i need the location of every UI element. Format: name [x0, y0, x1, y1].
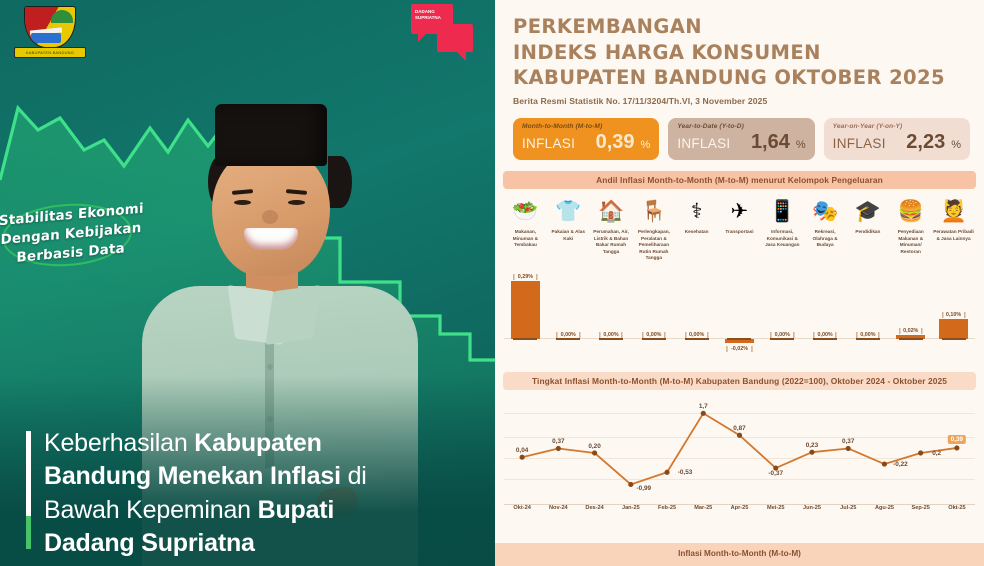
- bar-value-label: 0,29%: [514, 274, 537, 280]
- category-7: 📱Informasi, Komunikasi & Jasa Keuangan: [761, 195, 804, 261]
- bar-baseline-mark: [642, 338, 666, 340]
- category-3: 🏠Perumahan, Air, Listrik & Bahan Bakar R…: [590, 195, 633, 261]
- bar: [939, 319, 968, 339]
- category-label: Rekreasi, Olahraga & Budaya: [804, 229, 847, 248]
- line-chart-x-axis-labels: Okt-24Nov-24Des-24Jan-25Feb-25Mar-25Apr-…: [504, 505, 975, 511]
- line-point-label: -0,99: [637, 485, 652, 492]
- category-label: Kesehatan: [675, 229, 718, 235]
- bar-base-underline: [513, 338, 537, 340]
- shield-blue-water: [31, 33, 61, 43]
- bar-column: 0,00%: [632, 266, 675, 361]
- speech-bubble-secondary: [437, 24, 473, 52]
- line-point-label: 0,04: [516, 447, 528, 454]
- headline-line-3: Bawah Kepeminan Bupati: [44, 494, 456, 527]
- x-axis-tick-label: Jun-25: [794, 505, 830, 511]
- category-1: 🥗Makanan, Minuman & Tembakau: [504, 195, 547, 261]
- bar-column: 0,00%: [590, 266, 633, 361]
- bar-column: 0,00%: [804, 266, 847, 361]
- category-label: Perlengkapan, Peralatan & Pemeliharaan R…: [632, 229, 675, 261]
- tagline-badge: Stabilitas Ekonomi Dengan Kebijakan Berb…: [0, 190, 146, 275]
- headline-2-bold: Bandung Menekan Inflasi: [44, 462, 341, 490]
- stat-label: Month-to-Month (M-to-M): [522, 123, 650, 130]
- headline-line-4: Dadang Supriatna: [44, 527, 456, 560]
- portrait-collar-right: [265, 285, 320, 345]
- line-point-label: 0,39: [948, 435, 966, 444]
- page-title: PERKEMBANGAN INDEKS HARGA KONSUMEN KABUP…: [495, 0, 984, 106]
- bar-value-label: 0,00%: [599, 332, 622, 338]
- x-axis-tick-label: Jul-25: [830, 505, 866, 511]
- bar-value-label: 0,00%: [856, 332, 879, 338]
- category-9: 🎓Pendidikan: [847, 195, 890, 261]
- restaurant-food-icon: 🍔: [889, 195, 932, 227]
- headline-4-bold: Dadang Supriatna: [44, 529, 255, 557]
- category-label: Transportasi: [718, 229, 761, 235]
- bar: [511, 281, 540, 339]
- bar-value-label: 0,10%: [942, 312, 965, 318]
- category-label: Perumahan, Air, Listrik & Bahan Bakar Ru…: [590, 229, 633, 255]
- line-point-label: 0,2: [932, 450, 941, 457]
- bar-baseline-mark: [556, 338, 580, 340]
- recreation-icon: 🎭: [804, 195, 847, 227]
- stat-label: Year-to-Date (Y-to-D): [677, 123, 805, 130]
- stat-unit: %: [796, 139, 806, 151]
- expenditure-category-row: 🥗Makanan, Minuman & Tembakau👕Pakaian & A…: [495, 189, 984, 261]
- bar-base-underline: [727, 338, 751, 340]
- section-header-andil-inflasi: Andil Inflasi Month-to-Month (M-to-M) me…: [503, 171, 976, 189]
- kabupaten-bandung-emblem: KABUPATEN BANDUNG: [14, 6, 86, 58]
- personal-care-icon: 💆: [932, 195, 975, 227]
- line-point-label: -0,53: [678, 469, 693, 476]
- category-label: Informasi, Komunikasi & Jasa Keuangan: [761, 229, 804, 248]
- line-point-label: -0,37: [768, 470, 783, 477]
- portrait-smile: [244, 228, 298, 250]
- bar-value-label: 0,00%: [685, 332, 708, 338]
- category-label: Makanan, Minuman & Tembakau: [504, 229, 547, 248]
- category-label: Pakaian & Alas Kaki: [547, 229, 590, 242]
- category-2: 👕Pakaian & Alas Kaki: [547, 195, 590, 261]
- bar-chart-columns: 0,29%0,00%0,00%0,00%0,00%-0,02%0,00%0,00…: [504, 266, 975, 361]
- headline-block: Keberhasilan Kabupaten Bandung Menekan I…: [26, 427, 456, 560]
- bar-baseline-mark: [813, 338, 837, 340]
- headline-1-bold: Kabupaten: [194, 429, 321, 457]
- house-icon: 🏠: [590, 195, 633, 227]
- x-axis-tick-label: Feb-25: [649, 505, 685, 511]
- line-point-label: -0,22: [893, 461, 908, 468]
- chart-legend-band: Inflasi Month-to-Month (M-to-M): [495, 543, 984, 566]
- line-chart-series: [504, 392, 975, 504]
- emblem-ribbon-label: KABUPATEN BANDUNG: [14, 47, 86, 58]
- bar-baseline-mark: [599, 338, 623, 340]
- category-5: ⚕Kesehatan: [675, 195, 718, 261]
- stat-word: INFLASI: [522, 136, 575, 151]
- x-axis-tick-label: Jan-25: [613, 505, 649, 511]
- category-label: Pendidikan: [847, 229, 890, 235]
- clothing-icon: 👕: [547, 195, 590, 227]
- bar-column: -0,02%: [718, 266, 761, 361]
- bar-column: 0,00%: [675, 266, 718, 361]
- line-point-label: 0,23: [806, 442, 818, 449]
- right-stats-panel: PERKEMBANGAN INDEKS HARGA KONSUMEN KABUP…: [495, 0, 984, 566]
- x-axis-tick-label: Okt-25: [939, 505, 975, 511]
- bar-column: 0,29%: [504, 266, 547, 361]
- headline-3-bold: Bupati: [258, 496, 335, 524]
- home-furniture-icon: 🪑: [632, 195, 675, 227]
- title-line-2: INDEKS HARGA KONSUMEN: [513, 40, 984, 66]
- stat-unit: %: [951, 139, 961, 151]
- headline-line-1: Keberhasilan Kabupaten: [44, 427, 456, 460]
- left-hero-panel: KABUPATEN BANDUNG DADANG SUPRIATNA: [0, 0, 495, 566]
- bar-value-label: 0,00%: [771, 332, 794, 338]
- transport-icon: ✈: [718, 195, 761, 227]
- health-cross-icon: ⚕: [675, 195, 718, 227]
- bar-column: 0,02%: [889, 266, 932, 361]
- title-line-1: PERKEMBANGAN: [513, 14, 984, 40]
- bar-baseline-mark: [856, 338, 880, 340]
- bar-column: 0,10%: [932, 266, 975, 361]
- peci-cap-icon: [215, 104, 327, 166]
- stat-unit: %: [641, 139, 651, 151]
- category-6: ✈Transportasi: [718, 195, 761, 261]
- portrait-eye-right: [288, 200, 305, 205]
- line-point-label: 0,37: [552, 438, 564, 445]
- title-line-3: KABUPATEN BANDUNG OKTOBER 2025: [513, 65, 984, 91]
- headline-2-plain: di: [341, 462, 367, 490]
- stat-value: 1,64: [751, 131, 790, 154]
- stat-word: INFLASI: [833, 136, 886, 151]
- category-8: 🎭Rekreasi, Olahraga & Budaya: [804, 195, 847, 261]
- infographic-page: KABUPATEN BANDUNG DADANG SUPRIATNA: [0, 0, 984, 566]
- portrait-button: [267, 364, 273, 370]
- stat-word: INFLASI: [677, 136, 730, 151]
- headline-line-2: Bandung Menekan Inflasi di: [44, 460, 456, 493]
- category-10: 🍔Penyediaan Makanan & Minuman/ Restoran: [889, 195, 932, 261]
- bar-base-underline: [942, 338, 966, 340]
- inflation-stat-cards: Month-to-Month (M-to-M) INFLASI 0,39 % Y…: [495, 106, 984, 160]
- x-axis-tick-label: Mar-25: [685, 505, 721, 511]
- graduation-cap-icon: 🎓: [847, 195, 890, 227]
- line-point-label: 0,87: [733, 425, 745, 432]
- section-header-tingkat-inflasi: Tingkat Inflasi Month-to-Month (M-to-M) …: [503, 372, 976, 390]
- stat-label: Year-on-Year (Y-on-Y): [833, 123, 961, 130]
- bar-baseline-mark: [685, 338, 709, 340]
- x-axis-tick-label: Agu-25: [866, 505, 902, 511]
- category-11: 💆Perawatan Pribadi & Jasa Lainnya: [932, 195, 975, 261]
- line-point-label: 1,7: [699, 403, 708, 410]
- badge-text: Stabilitas Ekonomi Dengan Kebijakan Berb…: [0, 199, 146, 270]
- x-axis-tick-label: Sep-25: [903, 505, 939, 511]
- bar-column: 0,00%: [547, 266, 590, 361]
- bar-value-label: 0,00%: [557, 332, 580, 338]
- bar-value-label: -0,02%: [727, 346, 752, 352]
- bar-column: 0,00%: [847, 266, 890, 361]
- headline-1-plain: Keberhasilan: [44, 429, 194, 457]
- portrait-hair-right: [328, 156, 352, 208]
- line-point-label: 0,20: [588, 443, 600, 450]
- shield-icon: [24, 6, 76, 48]
- stat-card-year-to-date: Year-to-Date (Y-to-D) INFLASI 1,64 %: [668, 118, 814, 160]
- andil-inflasi-bar-chart: 0,29%0,00%0,00%0,00%0,00%-0,02%0,00%0,00…: [504, 266, 975, 361]
- bar-value-label: 0,00%: [642, 332, 665, 338]
- food-bowl-icon: 🥗: [504, 195, 547, 227]
- stat-card-year-on-year: Year-on-Year (Y-on-Y) INFLASI 2,23 %: [824, 118, 970, 160]
- stat-value: 0,39: [596, 131, 635, 154]
- stat-value: 2,23: [906, 131, 945, 154]
- category-label: Penyediaan Makanan & Minuman/ Restoran: [889, 229, 932, 255]
- category-label: Perawatan Pribadi & Jasa Lainnya: [932, 229, 975, 242]
- bar-baseline-mark: [770, 338, 794, 340]
- category-4: 🪑Perlengkapan, Peralatan & Pemeliharaan …: [632, 195, 675, 261]
- stat-card-month-to-month: Month-to-Month (M-to-M) INFLASI 0,39 %: [513, 118, 659, 160]
- x-axis-tick-label: Apr-25: [721, 505, 757, 511]
- report-reference: Berita Resmi Statistik No. 17/11/3204/Th…: [513, 96, 984, 106]
- portrait-nose: [262, 210, 278, 224]
- smartphone-icon: 📱: [761, 195, 804, 227]
- x-axis-tick-label: Des-24: [576, 505, 612, 511]
- bar-value-label: 0,00%: [813, 332, 836, 338]
- speech-bubble-group: DADANG SUPRIATNA: [401, 4, 479, 60]
- portrait-eye-left: [234, 200, 251, 205]
- line-point-label: 0,37: [842, 438, 854, 445]
- x-axis-tick-label: Okt-24: [504, 505, 540, 511]
- tingkat-inflasi-line-chart: 0,040,370,20-0,99-0,531,70,87-0,370,230,…: [504, 392, 975, 504]
- bar-base-underline: [899, 338, 923, 340]
- x-axis-tick-label: Mei-25: [758, 505, 794, 511]
- headline-3-plain: Bawah Kepeminan: [44, 496, 258, 524]
- bar-column: 0,00%: [761, 266, 804, 361]
- x-axis-tick-label: Nov-24: [540, 505, 576, 511]
- bar-value-label: 0,02%: [899, 328, 922, 334]
